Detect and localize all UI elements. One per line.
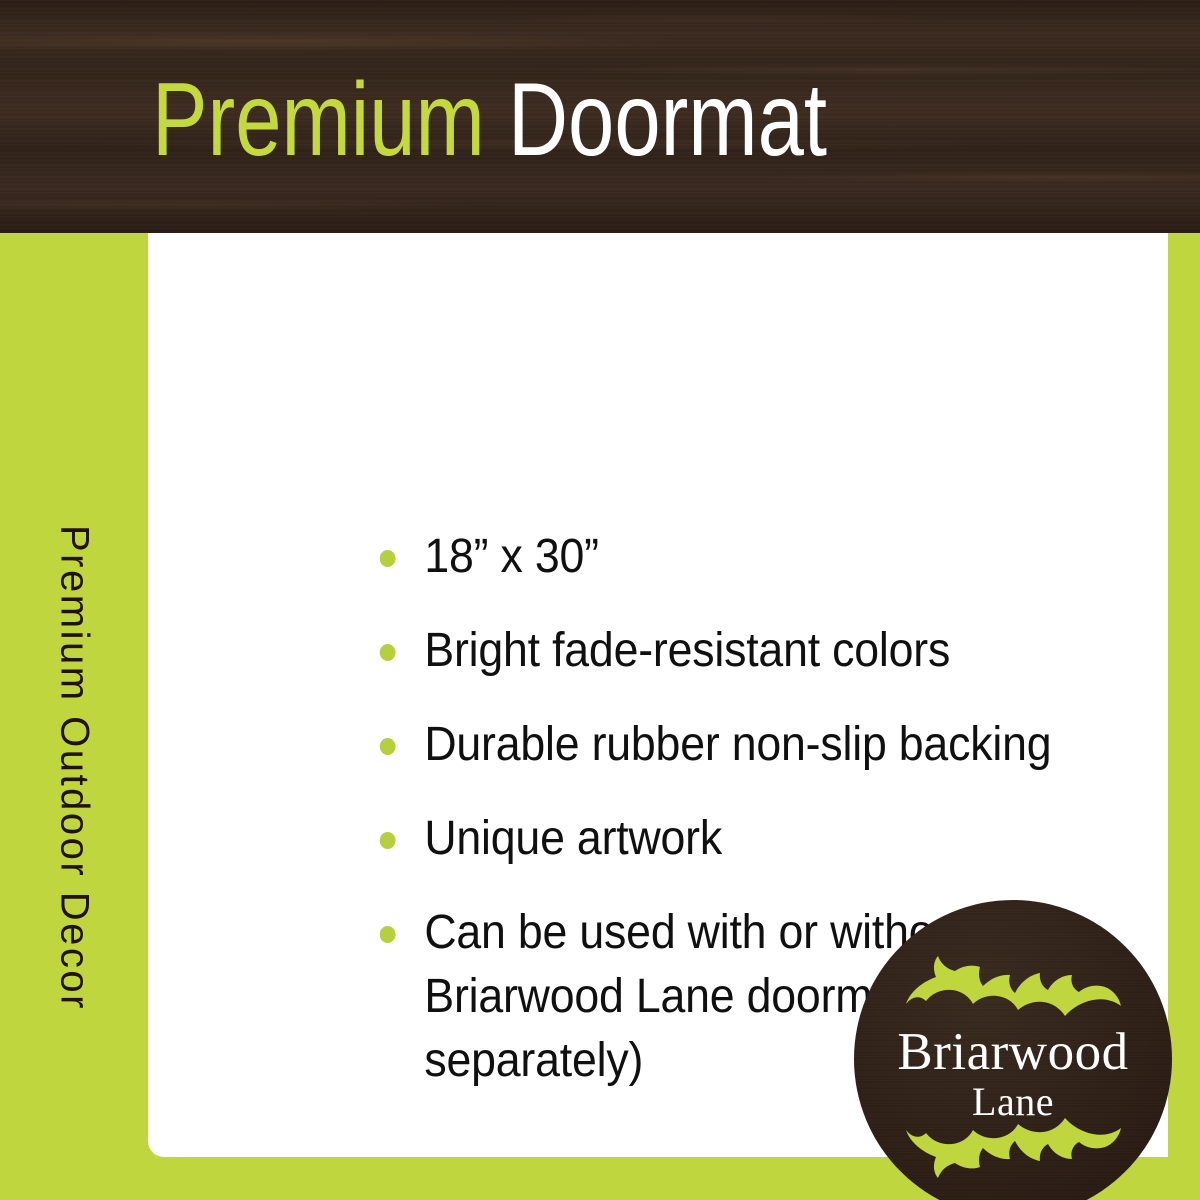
sidebar-banner: Premium Outdoor Decor xyxy=(0,233,148,1200)
product-infographic: Premium Doormat Premium Outdoor Decor 18… xyxy=(0,0,1200,1200)
page-title: Premium Doormat xyxy=(152,64,827,176)
bullet-icon xyxy=(380,550,396,567)
list-item: Bright fade-resistant colors xyxy=(376,619,1176,683)
bullet-icon xyxy=(380,738,396,755)
list-item-label: Unique artwork xyxy=(424,812,722,865)
page-title-rest: Doormat xyxy=(485,62,827,178)
list-item-label: Bright fade-resistant colors xyxy=(424,624,950,677)
list-item: Unique artwork xyxy=(376,807,1176,871)
bullet-icon xyxy=(380,832,396,849)
sidebar-vertical-label: Premium Outdoor Decor xyxy=(52,525,97,1011)
list-item: Can be used with or without our Briarwoo… xyxy=(376,901,1176,1093)
list-item: 18” x 30” xyxy=(376,525,1176,589)
feature-card: 18” x 30” Bright fade-resistant colors D… xyxy=(148,233,1168,1157)
header-banner: Premium Doormat xyxy=(0,0,1200,233)
list-item-label: 18” x 30” xyxy=(424,530,598,583)
bullet-icon xyxy=(380,926,396,943)
list-item-label: Can be used with or without our Briarwoo… xyxy=(424,906,1125,1087)
page-title-accent: Premium xyxy=(152,62,485,178)
list-item: Durable rubber non-slip backing xyxy=(376,713,1176,777)
bullet-icon xyxy=(380,644,396,661)
feature-list: 18” x 30” Bright fade-resistant colors D… xyxy=(376,525,1200,1093)
list-item-label: Durable rubber non-slip backing xyxy=(424,718,1051,771)
